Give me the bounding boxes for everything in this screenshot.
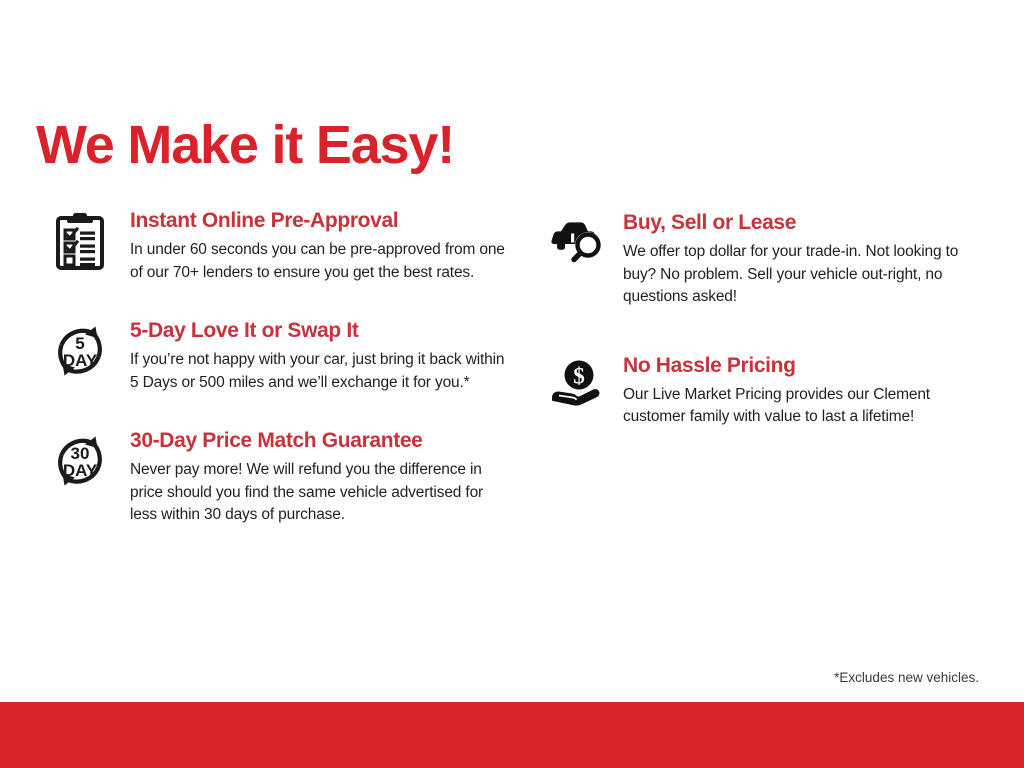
features-column-right: Buy, Sell or Lease We offer top dollar f…	[545, 210, 995, 429]
feature-body: Buy, Sell or Lease We offer top dollar f…	[623, 210, 995, 309]
clipboard-checklist-icon	[48, 212, 112, 276]
feature-heading: Instant Online Pre-Approval	[130, 208, 508, 233]
30-day-return-cycle-icon: 30 DAY	[48, 432, 112, 496]
features-column-left: Instant Online Pre-Approval In under 60 …	[48, 208, 508, 527]
feature-heading: 30-Day Price Match Guarantee	[130, 428, 508, 453]
feature-text: We offer top dollar for your trade-in. N…	[623, 241, 995, 309]
feature-text: Our Live Market Pricing provides our Cle…	[623, 384, 995, 429]
feature-heading: Buy, Sell or Lease	[623, 210, 995, 235]
feature-text: If you’re not happy with your car, just …	[130, 349, 508, 394]
hand-holding-dollar-icon: $	[545, 357, 609, 421]
feature-text: Never pay more! We will refund you the d…	[130, 459, 508, 527]
5-day-return-cycle-icon: 5 DAY	[48, 322, 112, 386]
feature-body: 5-Day Love It or Swap It If you’re not h…	[130, 318, 508, 394]
feature-buy-sell-or-lease: Buy, Sell or Lease We offer top dollar f…	[545, 210, 995, 309]
car-magnifier-icon	[545, 214, 609, 278]
feature-instant-online-pre-approval: Instant Online Pre-Approval In under 60 …	[48, 208, 508, 284]
feature-heading: No Hassle Pricing	[623, 353, 995, 378]
feature-heading: 5-Day Love It or Swap It	[130, 318, 508, 343]
feature-body: 30-Day Price Match Guarantee Never pay m…	[130, 428, 508, 527]
footnote-disclaimer: *Excludes new vehicles.	[834, 669, 979, 687]
feature-body: Instant Online Pre-Approval In under 60 …	[130, 208, 508, 284]
feature-body: No Hassle Pricing Our Live Market Pricin…	[623, 353, 995, 429]
feature-no-hassle-pricing: $ No Hassle Pricing Our Live Market Pric…	[545, 353, 995, 429]
feature-5-day-love-it-or-swap-it: 5 DAY 5-Day Love It or Swap It If you’re…	[48, 318, 508, 394]
feature-30-day-price-match-guarantee: 30 DAY 30-Day Price Match Guarantee Neve…	[48, 428, 508, 527]
icon-label-bottom: DAY	[63, 351, 98, 370]
svg-text:$: $	[573, 363, 585, 388]
page-title: We Make it Easy!	[36, 116, 454, 174]
icon-label-bottom: DAY	[63, 461, 98, 480]
bottom-accent-bar	[0, 702, 1024, 768]
feature-text: In under 60 seconds you can be pre-appro…	[130, 239, 508, 284]
